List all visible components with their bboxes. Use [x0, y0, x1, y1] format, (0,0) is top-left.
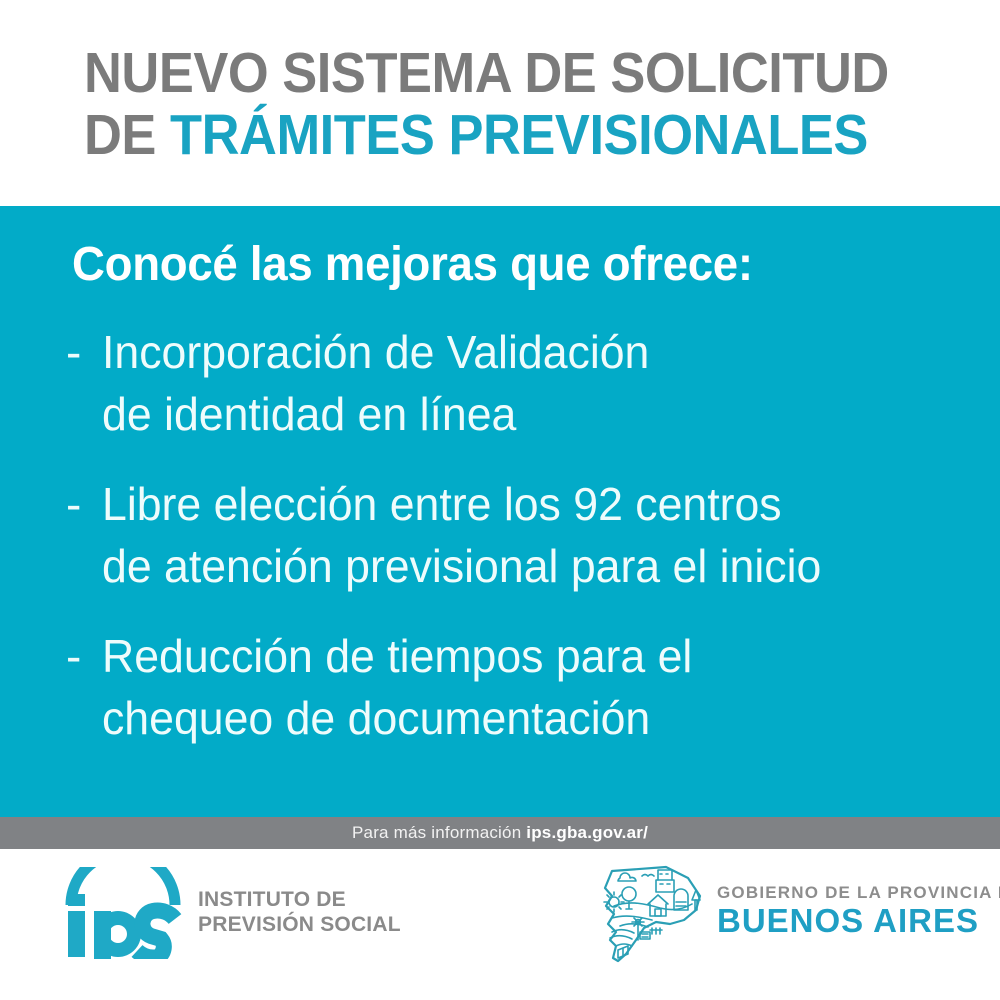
list-item-text: Incorporación de Validación de identidad… [102, 321, 959, 445]
list-item-line: Incorporación de Validación [102, 321, 959, 383]
buenos-aires-province-map-icon [596, 862, 711, 965]
list-item-line: de atención previsional para el inicio [102, 535, 959, 597]
list-item-line: chequeo de documentación [102, 687, 959, 749]
headline-line-2-prefix: DE [84, 103, 170, 167]
list-item-line: de identidad en línea [102, 383, 959, 445]
info-bar: Para más información ips.gba.gov.ar/ [0, 817, 1000, 849]
list-item-line: Reducción de tiempos para el [102, 625, 959, 687]
bullet-dash-icon: - [66, 321, 102, 383]
ips-logo: INSTITUTO DE PREVISIÓN SOCIAL [62, 865, 382, 960]
benefits-list: - Incorporación de Validación de identid… [66, 321, 986, 777]
list-item-text: Libre elección entre los 92 centros de a… [102, 473, 959, 597]
list-item-line: Libre elección entre los 92 centros [102, 473, 959, 535]
website-url[interactable]: ips.gba.gov.ar/ [526, 823, 648, 842]
bullet-dash-icon: - [66, 625, 102, 687]
ips-logo-text-line-2: PREVISIÓN SOCIAL [198, 912, 401, 937]
buenos-aires-logo: GOBIERNO DE LA PROVINCIA DE BUENOS AIRES [596, 861, 976, 966]
ba-logo-line-2: BUENOS AIRES [717, 903, 1000, 938]
list-item-text: Reducción de tiempos para el chequeo de … [102, 625, 959, 749]
subheading: Conocé las mejoras que ofrece: [72, 238, 753, 292]
more-info-prefix: Para más información [352, 823, 526, 842]
bullet-dash-icon: - [66, 473, 102, 535]
list-item: - Incorporación de Validación de identid… [66, 321, 986, 445]
list-item: - Libre elección entre los 92 centros de… [66, 473, 986, 597]
ba-logo-line-1: GOBIERNO DE LA PROVINCIA DE [717, 883, 1000, 903]
ips-logomark-icon [62, 867, 184, 959]
more-info-text: Para más información ips.gba.gov.ar/ [0, 817, 1000, 849]
buenos-aires-logo-text: GOBIERNO DE LA PROVINCIA DE BUENOS AIRES [717, 883, 1000, 944]
ips-logo-text-line-1: INSTITUTO DE [198, 887, 401, 912]
headline-line-2: DE TRÁMITES PREVISIONALES [84, 104, 875, 166]
header-band: NUEVO SISTEMA DE SOLICITUD DE TRÁMITES P… [0, 0, 1000, 206]
footer-band: INSTITUTO DE PREVISIÓN SOCIAL [0, 849, 1000, 1000]
poster-canvas: NUEVO SISTEMA DE SOLICITUD DE TRÁMITES P… [0, 0, 1000, 1000]
headline-line-2-accent: TRÁMITES PREVISIONALES [170, 103, 868, 167]
list-item: - Reducción de tiempos para el chequeo d… [66, 625, 986, 749]
main-content-band: Conocé las mejoras que ofrece: - Incorpo… [0, 206, 1000, 817]
headline-line-1: NUEVO SISTEMA DE SOLICITUD [84, 41, 889, 105]
ips-logo-text: INSTITUTO DE PREVISIÓN SOCIAL [198, 887, 401, 939]
page-title: NUEVO SISTEMA DE SOLICITUD DE TRÁMITES P… [84, 42, 875, 166]
